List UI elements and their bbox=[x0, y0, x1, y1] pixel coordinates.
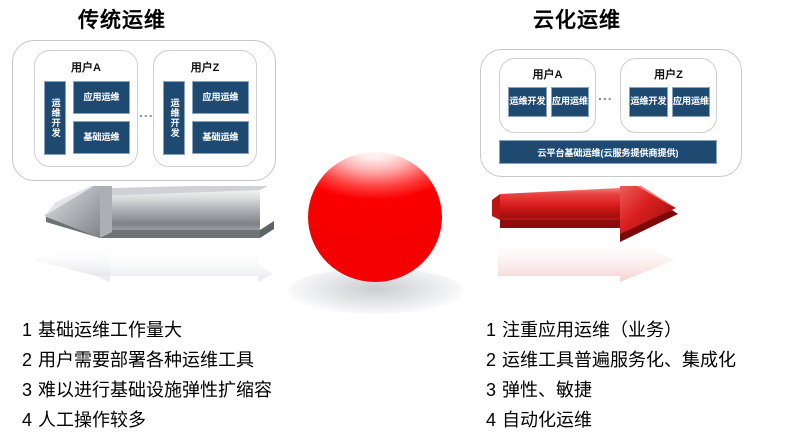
slide-canvas: 传统运维 云化运维 用户A 运维开发 应用运维 基础运维 ... 用户Z 运维开… bbox=[0, 0, 795, 447]
user-panel-a-cloud: 用户A 运维开发 应用运维 bbox=[499, 58, 596, 133]
list-item-number: 1 bbox=[22, 320, 38, 341]
list-item-number: 2 bbox=[486, 350, 502, 371]
red-right-arrow-icon bbox=[492, 186, 697, 298]
user-panel-label: 用户Z bbox=[621, 66, 716, 82]
list-item: 2 运维工具普遍服务化、集成化 bbox=[486, 346, 736, 376]
user-panel-label: 用户Z bbox=[154, 59, 256, 75]
block-application-ops: 应用运维 bbox=[192, 81, 249, 114]
user-panel-label: 用户A bbox=[500, 66, 595, 82]
page-title-traditional: 传统运维 bbox=[78, 4, 166, 34]
list-item-number: 3 bbox=[22, 380, 38, 401]
list-item-text: 弹性、敏捷 bbox=[502, 376, 592, 402]
list-item-number: 2 bbox=[22, 350, 38, 371]
cloud-ops-bullet-list: 1 注重应用运维（业务） 2 运维工具普遍服务化、集成化 3 弹性、敏捷 4 自… bbox=[486, 316, 736, 436]
panel-ellipsis-separator: ... bbox=[598, 88, 613, 102]
list-item-text: 基础运维工作量大 bbox=[38, 316, 182, 342]
traditional-ops-bullet-list: 1 基础运维工作量大 2 用户需要部署各种运维工具 3 难以进行基础设施弹性扩缩… bbox=[22, 316, 272, 436]
block-ops-development: 运维开发 bbox=[163, 81, 185, 155]
block-application-ops: 应用运维 bbox=[551, 87, 589, 117]
list-item-number: 4 bbox=[22, 410, 38, 431]
user-panel-z-traditional: 用户Z 运维开发 应用运维 基础运维 bbox=[153, 50, 257, 167]
list-item: 4 自动化运维 bbox=[486, 406, 736, 436]
list-item-text: 难以进行基础设施弹性扩缩容 bbox=[38, 376, 272, 402]
block-infrastructure-ops: 基础运维 bbox=[73, 121, 130, 154]
list-item-number: 4 bbox=[486, 410, 502, 431]
block-application-ops: 应用运维 bbox=[672, 87, 710, 117]
user-panel-label: 用户A bbox=[35, 59, 137, 75]
block-ops-development: 运维开发 bbox=[508, 87, 547, 117]
traditional-ops-container: 用户A 运维开发 应用运维 基础运维 ... 用户Z 运维开发 应用运维 基础运… bbox=[12, 40, 276, 181]
list-item-text: 运维工具普遍服务化、集成化 bbox=[502, 346, 736, 372]
page-title-cloud: 云化运维 bbox=[533, 4, 621, 34]
list-item-text: 人工操作较多 bbox=[38, 406, 146, 432]
list-item-text: 用户需要部署各种运维工具 bbox=[38, 346, 254, 372]
cloud-platform-infrastructure-bar: 云平台基础运维(云服务提供商提供) bbox=[499, 140, 717, 164]
red-sphere-icon bbox=[308, 152, 442, 282]
cloud-ops-container: 用户A 运维开发 应用运维 ... 用户Z 运维开发 应用运维 云平台基础运维(… bbox=[480, 49, 742, 177]
list-item: 3 弹性、敏捷 bbox=[486, 376, 736, 406]
block-infrastructure-ops: 基础运维 bbox=[192, 121, 249, 154]
user-panel-a-traditional: 用户A 运维开发 应用运维 基础运维 bbox=[34, 50, 138, 167]
block-ops-development: 运维开发 bbox=[629, 87, 668, 117]
list-item-number: 3 bbox=[486, 380, 502, 401]
user-panel-z-cloud: 用户Z 运维开发 应用运维 bbox=[620, 58, 717, 133]
list-item-text: 自动化运维 bbox=[502, 406, 592, 432]
list-item: 1 基础运维工作量大 bbox=[22, 316, 272, 346]
list-item: 1 注重应用运维（业务） bbox=[486, 316, 736, 346]
list-item-number: 1 bbox=[486, 320, 502, 341]
list-item-text: 注重应用运维（业务） bbox=[502, 316, 682, 342]
list-item: 4 人工操作较多 bbox=[22, 406, 272, 436]
panel-ellipsis-separator: ... bbox=[139, 105, 154, 119]
block-ops-development: 运维开发 bbox=[44, 81, 66, 155]
list-item: 3 难以进行基础设施弹性扩缩容 bbox=[22, 376, 272, 406]
gray-left-arrow-icon bbox=[28, 186, 278, 298]
list-item: 2 用户需要部署各种运维工具 bbox=[22, 346, 272, 376]
block-application-ops: 应用运维 bbox=[73, 81, 130, 114]
